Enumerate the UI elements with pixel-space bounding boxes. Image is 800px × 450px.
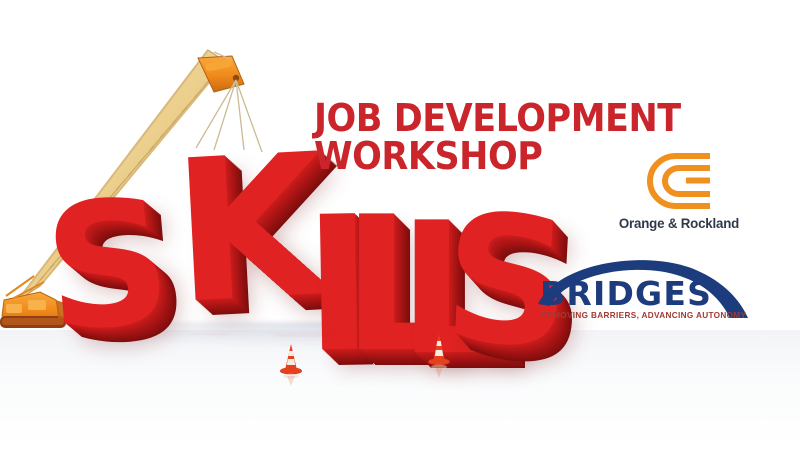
traffic-cone-left <box>278 340 304 392</box>
bridges-wordmark: BRIDGES <box>540 274 712 313</box>
bridges-tagline: REMOVING BARRIERS, ADVANCING AUTONOMY <box>541 311 747 320</box>
orange-rockland-logo-icon <box>646 152 712 210</box>
orange-rockland-name: Orange & Rockland <box>608 215 751 231</box>
traffic-cone-right <box>426 330 452 384</box>
poster-canvas: S K I L L S S K I L L S JOB DEVELOPMENT … <box>0 0 800 450</box>
orange-rockland-logo: Orange & Rockland <box>604 152 754 231</box>
bridges-logo: BRIDGES REMOVING BARRIERS, ADVANCING AUT… <box>524 248 774 328</box>
crane-boom-head-icon <box>198 56 244 92</box>
skills-letter-s1: S <box>39 175 175 357</box>
headline-line-1: JOB DEVELOPMENT <box>314 100 682 136</box>
